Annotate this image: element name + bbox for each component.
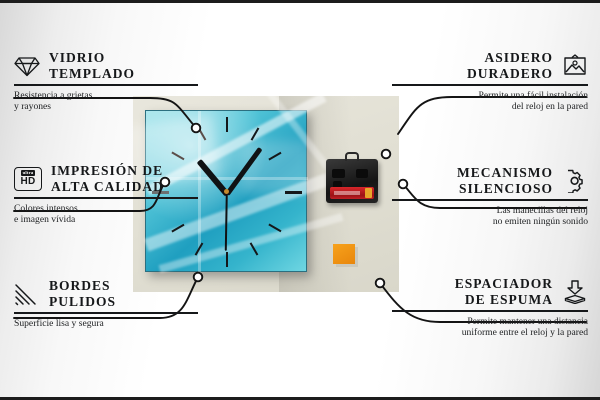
foam-spacer-icon xyxy=(562,280,588,304)
ultra-hd-icon-main-text: HD xyxy=(20,177,35,187)
feature-title-line1: BORDES xyxy=(49,278,111,294)
feature-vidrio-templado: VIDRIO TEMPLADO Resistencia a grietas y … xyxy=(14,50,198,112)
battery-label xyxy=(334,191,360,195)
feature-title-line2: ALTA CALIDAD xyxy=(51,179,164,195)
feature-header: VIDRIO TEMPLADO xyxy=(14,50,198,81)
feature-description-line1: Superficie lisa y segura xyxy=(14,318,198,329)
feature-description-line1: Permite mantener una distancia xyxy=(392,316,588,327)
feature-title-line1: ASIDERO xyxy=(484,50,553,66)
feature-asidero-duradero: ASIDERO DURADERO Permite una fácil insta… xyxy=(392,50,588,112)
battery xyxy=(330,187,374,199)
feature-title-line2: PULIDOS xyxy=(49,294,116,310)
feature-divider xyxy=(392,84,588,86)
feature-titles: IMPRESIÓN DE ALTA CALIDAD xyxy=(51,163,164,194)
feature-mecanismo-silencioso: MECANISMO SILENCIOSO Las manecillas del … xyxy=(392,165,588,227)
hanging-frame-icon xyxy=(562,54,588,78)
feature-title-line2: TEMPLADO xyxy=(49,66,135,82)
top-border xyxy=(0,0,600,3)
feature-title-line1: IMPRESIÓN DE xyxy=(51,163,163,179)
feature-description-line2: no emiten ningún sonido xyxy=(392,216,588,227)
clock-tick-12 xyxy=(226,117,228,132)
clock-center-pivot xyxy=(224,189,229,194)
feature-titles: ASIDERO DURADERO xyxy=(467,50,553,81)
feature-divider xyxy=(392,310,588,312)
clock-tick-3 xyxy=(285,191,302,194)
polished-edges-icon xyxy=(14,282,40,306)
feature-description-line2: e imagen vívida xyxy=(14,214,198,225)
mechanism-hanger-icon xyxy=(345,152,359,161)
feature-description-line2: uniforme entre el reloj y la pared xyxy=(392,327,588,338)
feature-description-line1: Colores intensos xyxy=(14,203,198,214)
feature-description-line2: y rayones xyxy=(14,101,198,112)
feature-titles: MECANISMO SILENCIOSO xyxy=(457,165,553,196)
feature-description-line1: Permite una fácil instalación xyxy=(392,90,588,101)
feature-header: ESPACIADOR DE ESPUMA xyxy=(392,276,588,307)
diamond-icon xyxy=(14,54,40,78)
feature-title-line1: VIDRIO xyxy=(49,50,105,66)
feature-titles: VIDRIO TEMPLADO xyxy=(49,50,135,81)
feature-header: BORDES PULIDOS xyxy=(14,278,198,309)
feature-title-line1: MECANISMO xyxy=(457,165,553,181)
feature-title-line2: DURADERO xyxy=(467,66,553,82)
feature-divider xyxy=(392,199,588,201)
mechanism-slot-b xyxy=(356,169,368,178)
feature-espaciador-de-espuma: ESPACIADOR DE ESPUMA Permite mantener un… xyxy=(392,276,588,338)
foam-spacer xyxy=(333,244,355,264)
feature-description-line1: Las manecillas del reloj xyxy=(392,205,588,216)
feature-title-line2: DE ESPUMA xyxy=(465,292,553,308)
feature-bordes-pulidos: BORDES PULIDOS Superficie lisa y segura xyxy=(14,278,198,329)
feature-header: ultra HD IMPRESIÓN DE ALTA CALIDAD xyxy=(14,163,198,194)
feature-title-line2: SILENCIOSO xyxy=(459,181,553,197)
infographic-canvas: VIDRIO TEMPLADO Resistencia a grietas y … xyxy=(0,0,600,400)
feature-header: MECANISMO SILENCIOSO xyxy=(392,165,588,196)
gear-icon xyxy=(562,169,588,193)
mechanism-slot-a xyxy=(332,169,345,178)
feature-divider xyxy=(14,84,198,86)
feature-description-line1: Resistencia a grietas xyxy=(14,90,198,101)
ultra-hd-icon: ultra HD xyxy=(14,167,42,191)
feature-divider xyxy=(14,312,198,314)
feature-title-line1: ESPACIADOR xyxy=(455,276,553,292)
feature-impresion-alta-calidad: ultra HD IMPRESIÓN DE ALTA CALIDAD Color… xyxy=(14,163,198,225)
feature-divider xyxy=(14,197,198,199)
clock-mechanism xyxy=(326,159,378,203)
clock-tick-6 xyxy=(226,252,228,267)
battery-positive-terminal xyxy=(365,188,372,198)
feature-header: ASIDERO DURADERO xyxy=(392,50,588,81)
feature-titles: BORDES PULIDOS xyxy=(49,278,116,309)
feature-titles: ESPACIADOR DE ESPUMA xyxy=(455,276,553,307)
feature-description-line2: del reloj en la pared xyxy=(392,101,588,112)
